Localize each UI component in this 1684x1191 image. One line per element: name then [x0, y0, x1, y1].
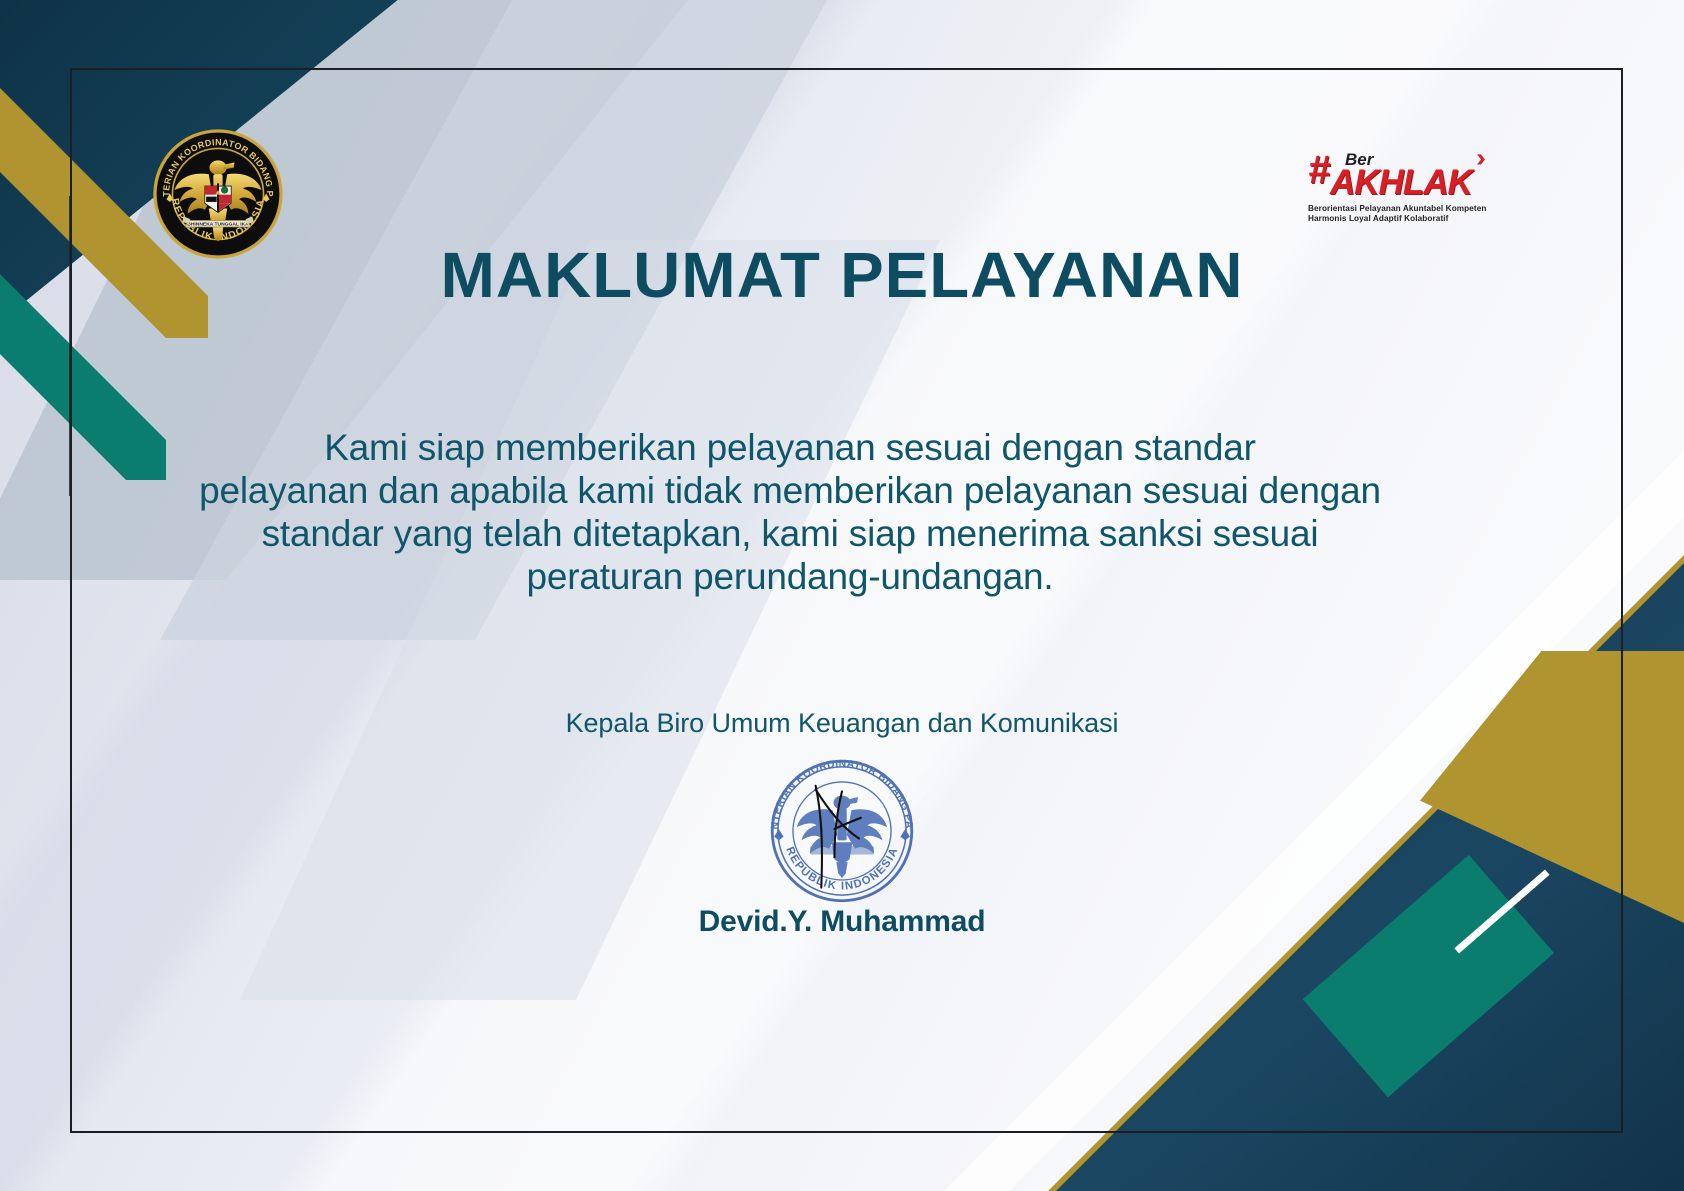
berakhlak-tagline-line2: Harmonis Loyal Adaptif Kolaboratif [1308, 214, 1488, 224]
page-title: MAKLUMAT PELAYANAN [0, 238, 1684, 312]
berakhlak-logo: # Ber AKHLAK › Berorientasi Pelayanan Ak… [1308, 148, 1488, 226]
berakhlak-chevron-icon: › [1476, 146, 1486, 172]
body-line-3: standar yang telah ditetapkan, kami siap… [140, 514, 1440, 554]
signatory-name: Devid.Y. Muhammad [0, 905, 1684, 939]
official-stamp-icon: KEMENTERIAN KOORDINATOR BIDANG PANGAN RE… [747, 748, 937, 913]
body-line-1: Kami siap memberikan pelayanan sesuai de… [140, 428, 1440, 468]
berakhlak-tagline-line1: Berorientasi Pelayanan Akuntabel Kompete… [1308, 204, 1488, 214]
berakhlak-hash-icon: # [1308, 150, 1328, 190]
maklumat-pelayanan-poster: KEMENTERIAN KOORDINATOR BIDANG PANGAN RE… [0, 0, 1684, 1191]
body-line-4: peraturan perundang-undangan. [140, 557, 1440, 597]
berakhlak-main-label: AKHLAK [1330, 165, 1472, 200]
body-line-2: pelayanan dan apabila kami tidak memberi… [140, 471, 1440, 511]
maklumat-body-text: Kami siap memberikan pelayanan sesuai de… [140, 428, 1440, 600]
svg-text:BHINNEKA TUNGGAL IKA: BHINNEKA TUNGGAL IKA [187, 222, 249, 228]
signatory-title: Kepala Biro Umum Keuangan dan Komunikasi [0, 708, 1684, 739]
